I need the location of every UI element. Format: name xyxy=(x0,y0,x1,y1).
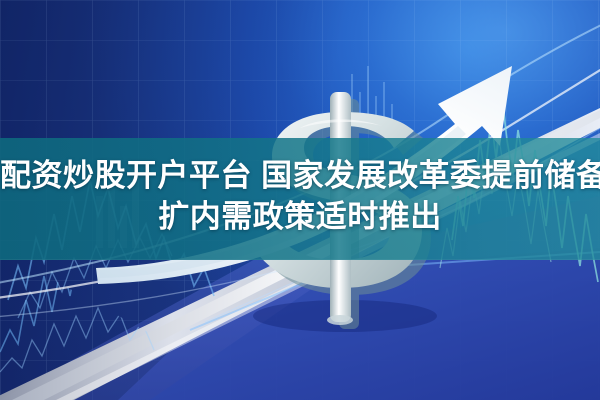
banner-image: 配资炒股开户平台 国家发展改革委提前储备一批 扩内需政策适时推出 xyxy=(0,0,600,400)
teal-overlay-band xyxy=(0,138,600,260)
